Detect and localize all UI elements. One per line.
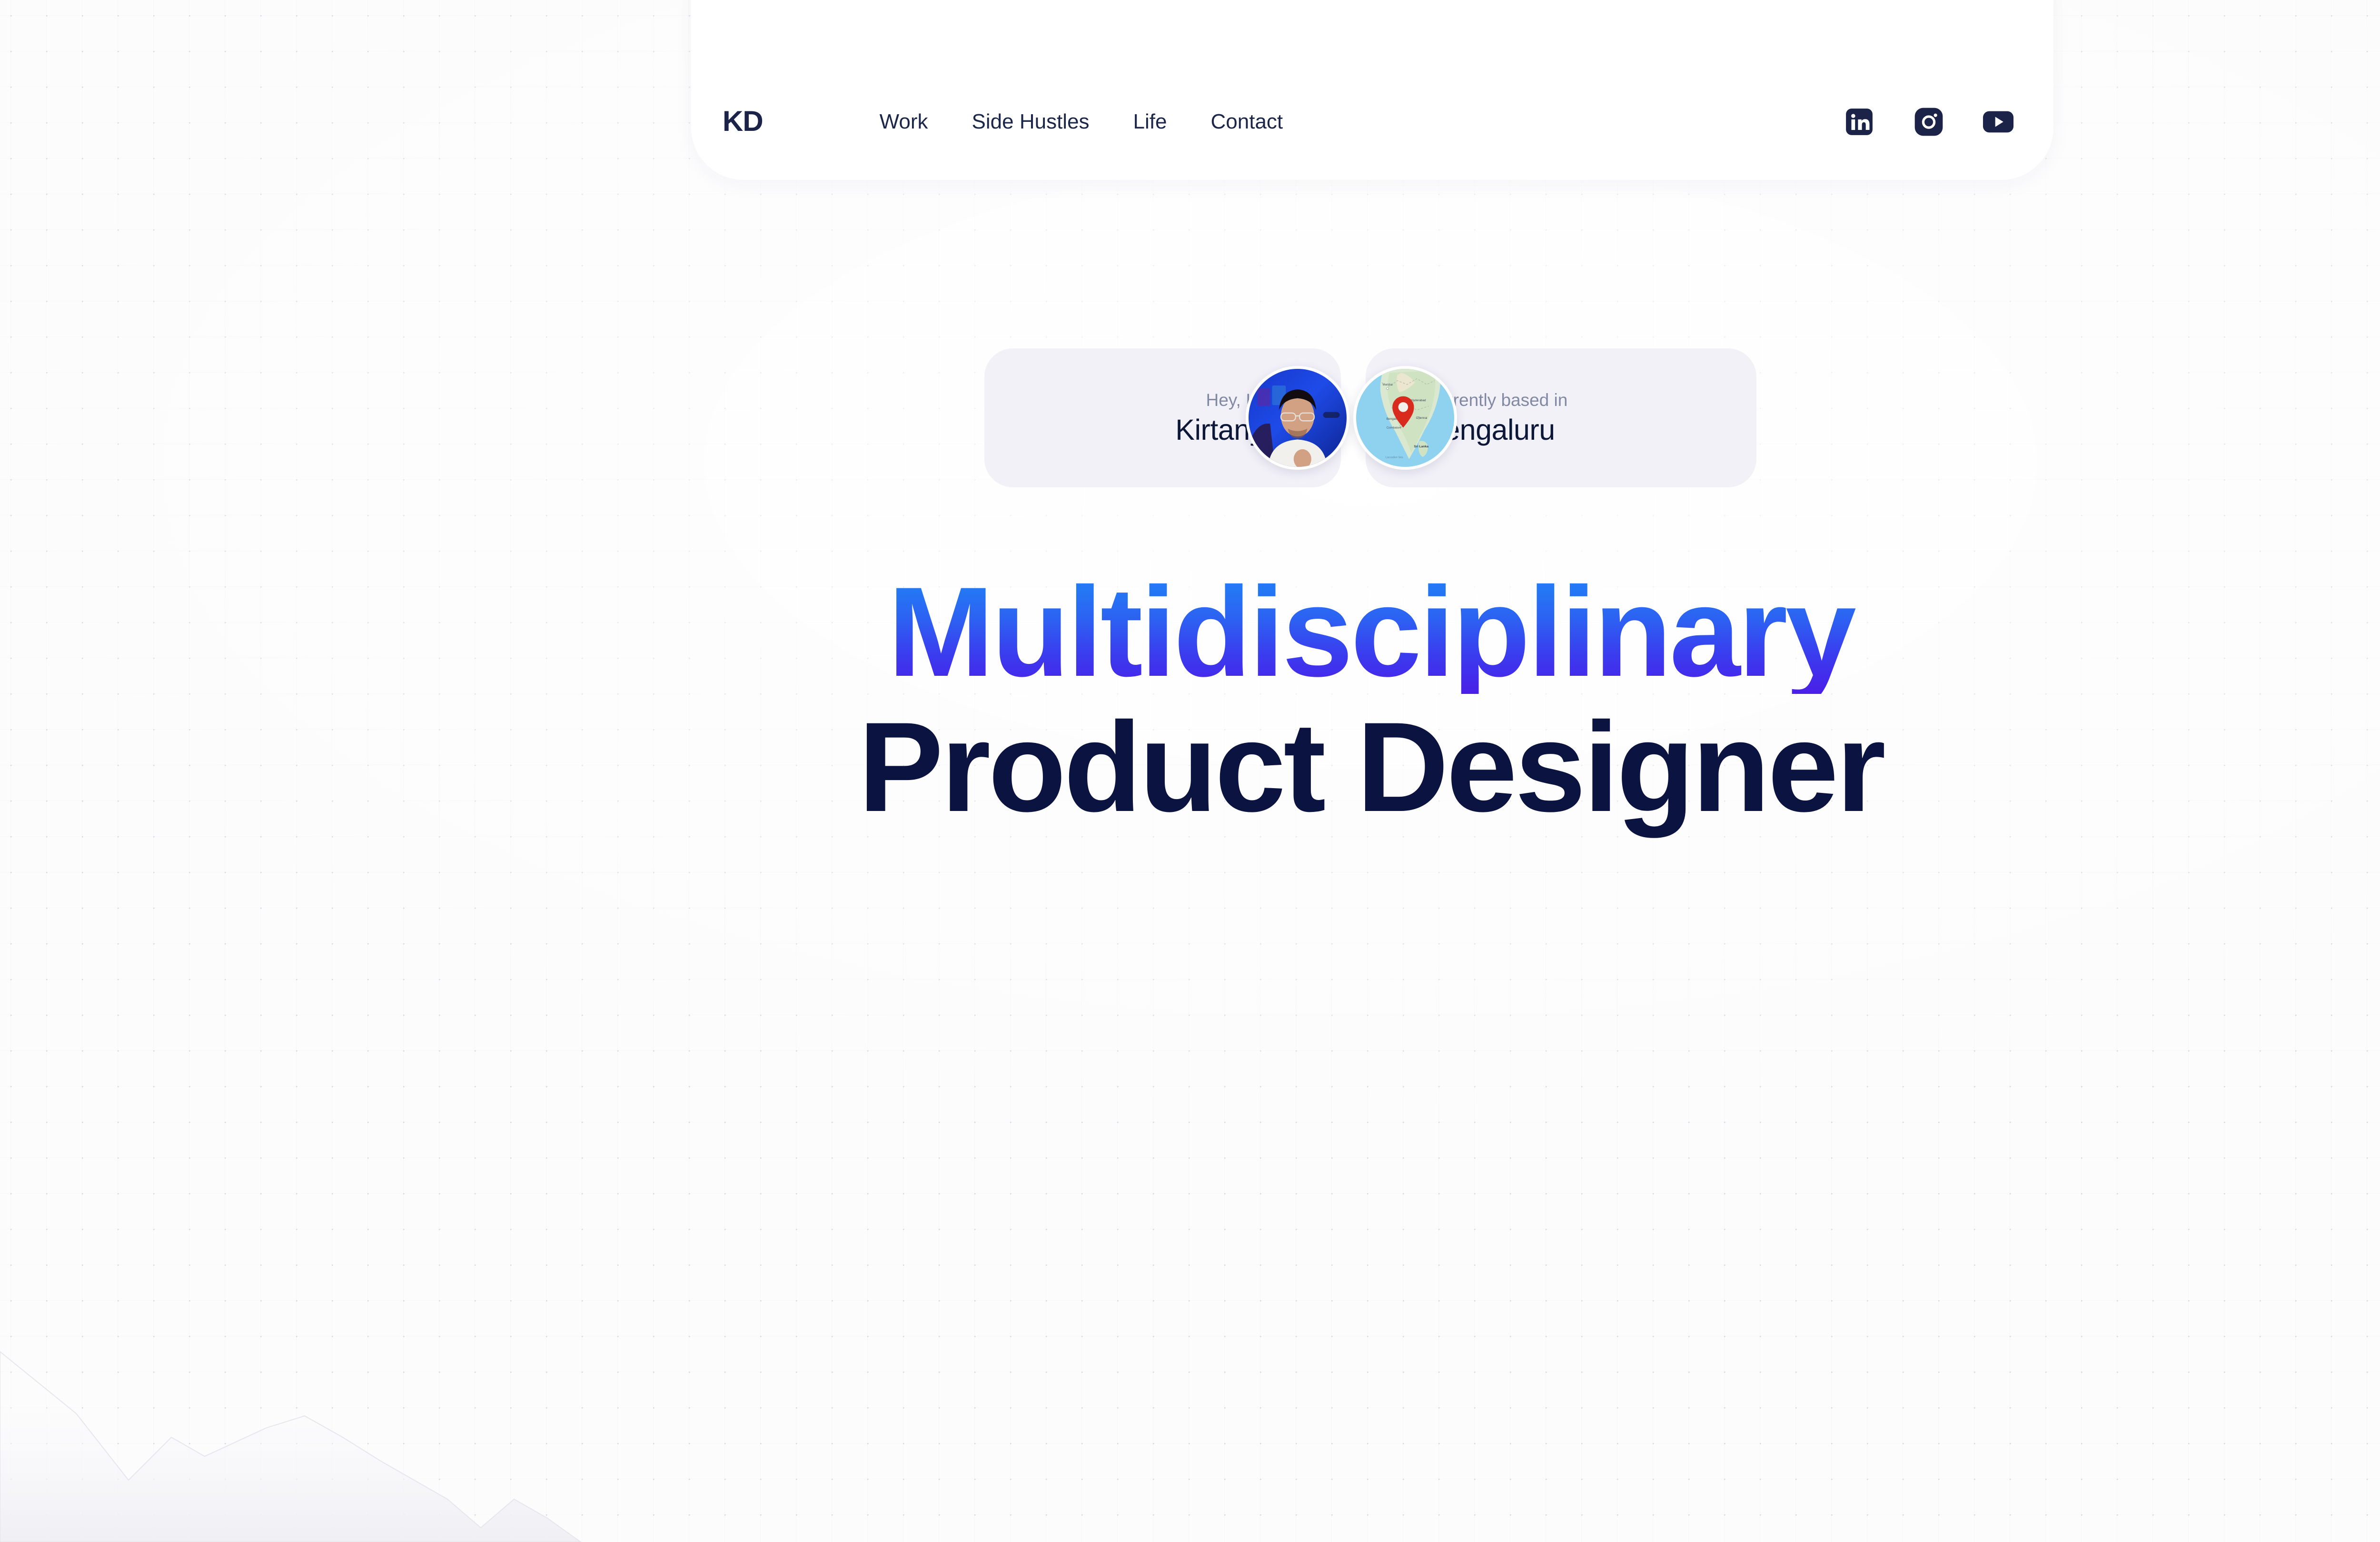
torn-paper-mountains bbox=[0, 1295, 2380, 1542]
hero-headline: Multidisciplinary Product Designer bbox=[0, 570, 2380, 829]
headline-line-1: Multidisciplinary bbox=[0, 570, 2380, 694]
navbar: KD Work Side Hustles Life Contact bbox=[691, 0, 2053, 180]
nav-link-contact[interactable]: Contact bbox=[1211, 107, 1283, 137]
social-links bbox=[1843, 106, 2022, 138]
linkedin-icon[interactable] bbox=[1843, 106, 1875, 138]
instagram-icon[interactable] bbox=[1913, 106, 1945, 138]
svg-text:Coimbatore: Coimbatore bbox=[1387, 427, 1402, 430]
badge-name-card[interactable]: Hey, I am Kirtanya bbox=[984, 348, 1341, 487]
svg-text:Sri Lanka: Sri Lanka bbox=[1414, 445, 1429, 448]
mountain-left bbox=[0, 1352, 581, 1542]
intro-badges: Hey, I am Kirtanya bbox=[984, 348, 1756, 487]
nav-link-side-hustles[interactable]: Side Hustles bbox=[972, 107, 1090, 137]
svg-text:Laccadive Sea: Laccadive Sea bbox=[1386, 456, 1403, 459]
headline-line-2: Product Designer bbox=[0, 705, 2380, 829]
nav-link-life[interactable]: Life bbox=[1133, 107, 1167, 137]
youtube-icon[interactable] bbox=[1982, 106, 2014, 138]
logo-kd[interactable]: KD bbox=[723, 107, 763, 136]
svg-text:Mumbai: Mumbai bbox=[1383, 384, 1393, 386]
badge-location-card[interactable]: Mumbai Hyderabad Bengaluru Chennai Coimb… bbox=[1366, 348, 1756, 487]
avatar bbox=[1246, 366, 1349, 470]
navbar-inner: KD Work Side Hustles Life Contact bbox=[723, 106, 2022, 138]
map-thumbnail: Mumbai Hyderabad Bengaluru Chennai Coimb… bbox=[1353, 366, 1457, 470]
svg-text:Hyderabad: Hyderabad bbox=[1411, 399, 1426, 402]
nav-link-work[interactable]: Work bbox=[880, 107, 928, 137]
svg-text:Chennai: Chennai bbox=[1416, 416, 1428, 420]
nav-links: Work Side Hustles Life Contact bbox=[880, 107, 1283, 137]
